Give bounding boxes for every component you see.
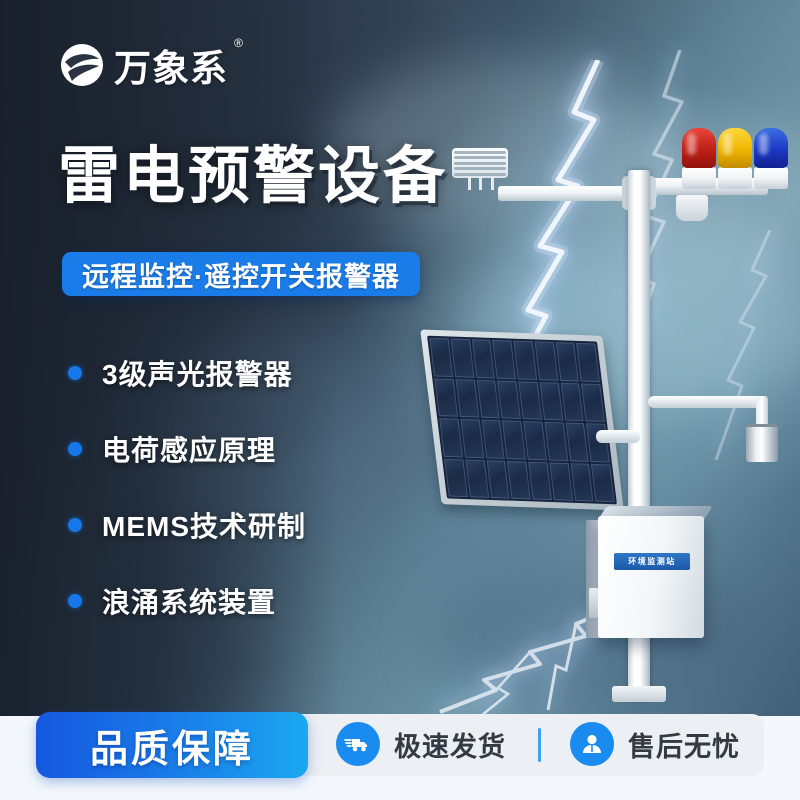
- feature-label: 电荷感应原理: [102, 429, 276, 469]
- quality-guarantee-badge[interactable]: 品质保障: [36, 712, 308, 778]
- quality-guarantee-label: 品质保障: [90, 718, 254, 773]
- trust-item-fast-shipping[interactable]: 极速发货: [336, 722, 506, 766]
- subtitle-text: 远程监控·遥控开关报警器: [82, 255, 400, 294]
- product-promo-poster: 环境监测站 万象系 ® 雷电预警设备 远程监控·遥控开关报警器 3级声光报警器 …: [0, 0, 800, 800]
- list-item: 3级声光报警器: [68, 344, 398, 402]
- list-item: MEMS技术研制: [68, 496, 398, 554]
- brand-name-text: 万象系: [114, 48, 228, 89]
- page-title: 雷电预警设备: [58, 146, 448, 208]
- fast-shipping-label: 极速发货: [394, 725, 506, 764]
- subtitle-badge: 远程监控·遥控开关报警器: [62, 252, 420, 296]
- feature-list: 3级声光报警器 电荷感应原理 MEMS技术研制 浪涌系统装置: [68, 344, 398, 648]
- feature-label: 浪涌系统装置: [102, 581, 276, 621]
- delivery-truck-icon: [336, 722, 380, 766]
- bullet-dot-icon: [68, 518, 82, 532]
- bullet-dot-icon: [68, 594, 82, 608]
- after-sales-label: 售后无忧: [628, 725, 740, 764]
- bullet-dot-icon: [68, 442, 82, 456]
- brand-name: 万象系 ®: [114, 38, 228, 92]
- trust-item-after-sales[interactable]: 售后无忧: [570, 722, 740, 766]
- registered-trademark-icon: ®: [234, 36, 244, 50]
- swoosh-circle-logo-icon: [60, 43, 104, 87]
- list-item: 电荷感应原理: [68, 420, 398, 478]
- bullet-dot-icon: [68, 366, 82, 380]
- trust-bar-divider: [538, 728, 541, 762]
- list-item: 浪涌系统装置: [68, 572, 398, 630]
- brand-logo: 万象系 ®: [60, 38, 228, 92]
- feature-label: MEMS技术研制: [102, 505, 306, 545]
- customer-service-person-icon: [570, 722, 614, 766]
- feature-label: 3级声光报警器: [102, 353, 293, 393]
